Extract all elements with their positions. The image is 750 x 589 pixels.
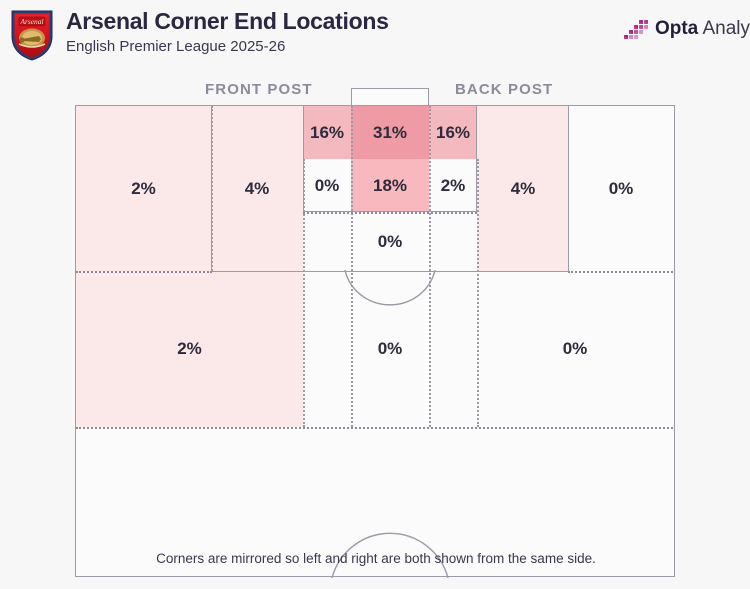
svg-text:Arsenal: Arsenal [20,17,44,26]
grid-divider-back-post [429,106,431,427]
zone-edge-back[interactable]: 0% [477,271,673,427]
opta-mark-icon [623,16,649,42]
zone-wide-front-outer[interactable]: 2% [76,106,211,271]
opta-wordmark-light: Analy [698,18,750,39]
opta-wordmark: Opta Analy [655,18,750,40]
grid-divider-penalty-left [211,106,213,271]
footnote-text: Corners are mirrored so left and right a… [76,551,676,566]
arsenal-crest-icon: Arsenal [8,8,56,62]
grid-divider-box-edge-left [76,271,212,273]
page-title: Arsenal Corner End Locations [66,8,389,35]
zone-edge-front[interactable]: 2% [76,271,303,427]
six-yard-box-line [303,105,477,212]
back-post-label: BACK POST [455,81,553,98]
zone-value: 0% [378,339,403,359]
zone-value: 2% [177,339,202,359]
grid-divider-lower-band [76,427,673,429]
grid-divider-six-right [477,159,479,427]
header: Arsenal Arsenal Corner End Locations Eng… [0,0,750,72]
front-post-label: FRONT POST [205,81,313,98]
zone-wide-back-outer[interactable]: 0% [569,106,673,271]
zone-value: 2% [131,179,156,199]
zone-value: 0% [609,179,634,199]
pitch-diagram: 2% 4% 16% 31% 16% 0% 18% 2% 0% 4% 0% 2% … [75,105,675,577]
opta-wordmark-bold: Opta [655,18,698,39]
grid-divider-front-post [351,106,353,427]
grid-divider-box-edge-right [568,271,673,273]
grid-divider-six-left [303,159,305,427]
centre-circle-arc [326,498,454,578]
zone-value: 0% [563,339,588,359]
page-subtitle: English Premier League 2025-26 [66,38,285,55]
goal-mouth [351,88,429,106]
opta-analyst-logo: Opta Analy [623,16,750,42]
penalty-arc [343,270,437,316]
grid-divider-six-yard-bottom [303,212,477,214]
